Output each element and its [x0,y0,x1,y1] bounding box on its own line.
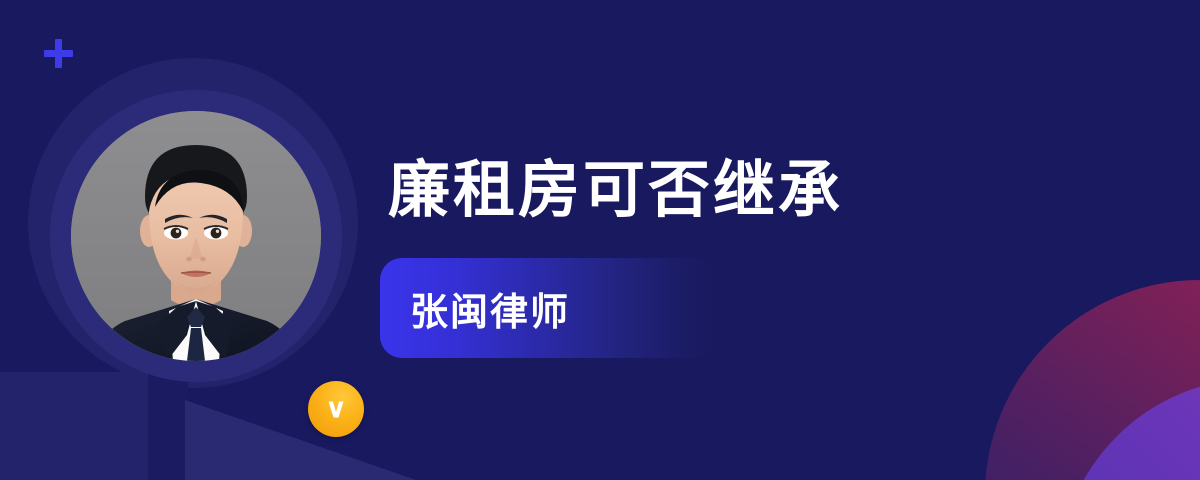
lawyer-name-label: 张闽律师 [380,281,570,336]
check-v-icon [321,394,351,424]
avatar [50,90,342,382]
decorative-column [148,372,188,480]
portrait-illustration [71,111,321,361]
page-title: 廉租房可否继承 [388,160,843,222]
lawyer-name-pill: 张闽律师 [380,258,716,358]
decorative-panel-bottom-left [0,372,148,480]
plus-icon [44,39,73,68]
decorative-arc-crimson [985,280,1200,480]
decorative-arc-purple [1058,378,1200,480]
verified-badge [308,381,364,437]
avatar-photo [71,111,321,361]
lawyer-promo-banner: 廉租房可否继承 张闽律师 [0,0,1200,480]
